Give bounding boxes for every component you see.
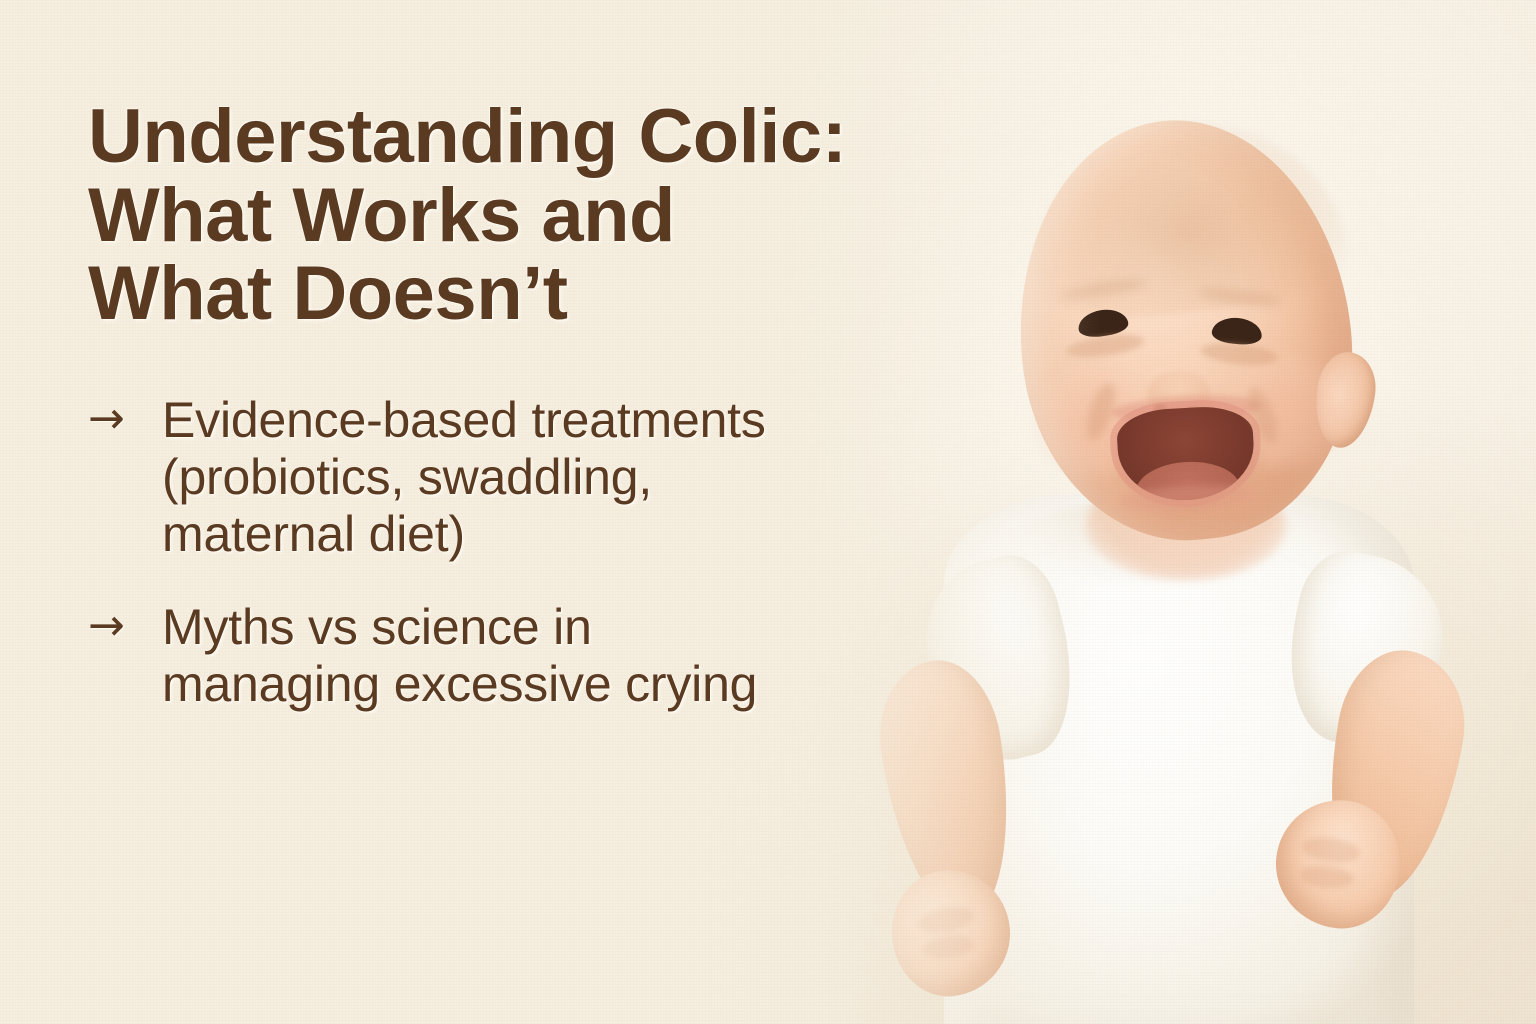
bullet-text: Evidence-based treatments (probiotics, s… (162, 392, 766, 563)
list-item: → Evidence-based treatments (probiotics,… (88, 392, 988, 563)
list-item: → Myths vs science in managing excessive… (88, 599, 988, 713)
text-overlay: Understanding Colic: What Works and What… (88, 98, 988, 713)
bullet-list: → Evidence-based treatments (probiotics,… (88, 392, 988, 713)
arrow-right-icon: → (88, 599, 162, 653)
arrow-right-icon: → (88, 392, 162, 446)
page-title: Understanding Colic: What Works and What… (88, 98, 988, 334)
bullet-text: Myths vs science in managing excessive c… (162, 599, 757, 713)
slide-canvas: Understanding Colic: What Works and What… (0, 0, 1536, 1024)
